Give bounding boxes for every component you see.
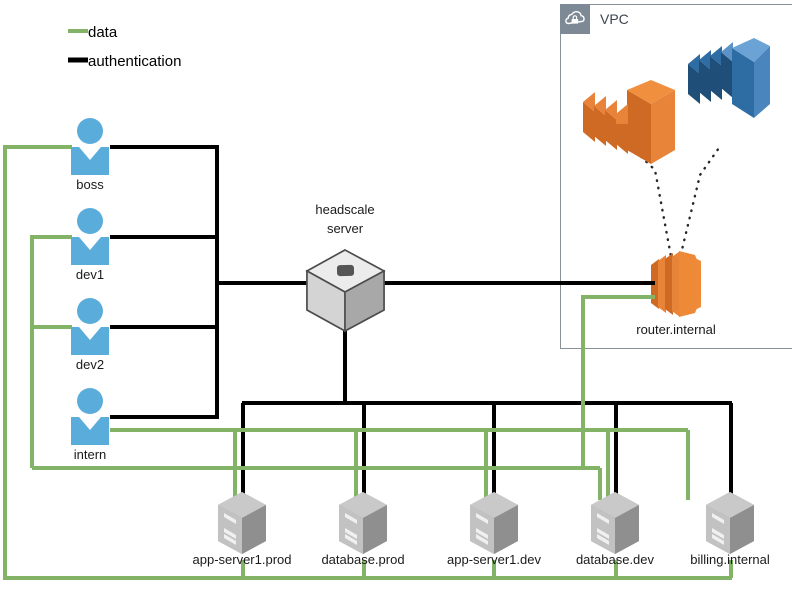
server-tower-icon	[706, 492, 754, 554]
server-node-database-dev[interactable]: database.dev	[576, 492, 655, 567]
aws-instance-orange-icon	[651, 251, 701, 317]
actor-node-boss[interactable]: boss	[71, 118, 109, 192]
server-tower-icon	[339, 492, 387, 554]
user-nodes: boss dev1 dev2	[71, 118, 109, 462]
legend-item-authentication: authentication	[68, 53, 181, 70]
actor-icon	[71, 388, 109, 445]
actor-icon	[71, 118, 109, 175]
server-tower-icon	[218, 492, 266, 554]
actor-node-dev1[interactable]: dev1	[71, 208, 109, 282]
vpc-label: VPC	[600, 11, 629, 27]
legend-item-data: data	[68, 24, 118, 41]
server-label: app-server1.prod	[193, 552, 292, 567]
server-nodes: app-server1.prod database.prod	[193, 492, 770, 567]
legend-label: data	[88, 24, 118, 41]
headscale-node[interactable]: headscale server	[307, 202, 384, 331]
network-topology-diagram: VPC	[0, 0, 792, 593]
server-tower-icon	[591, 492, 639, 554]
server-node-app-server1-dev[interactable]: app-server1.dev	[447, 492, 541, 567]
headscale-label-line2: server	[327, 221, 364, 236]
server-label: billing.internal	[690, 552, 770, 567]
user-label: boss	[76, 177, 104, 192]
legend-label: authentication	[88, 53, 181, 70]
actor-icon	[71, 298, 109, 355]
cube-3d-icon	[307, 250, 384, 331]
actor-icon	[71, 208, 109, 265]
user-label: dev2	[76, 357, 104, 372]
headscale-label-line1: headscale	[315, 202, 374, 217]
server-label: database.dev	[576, 552, 655, 567]
server-node-database-prod[interactable]: database.prod	[321, 492, 404, 567]
diagram-canvas: VPC	[0, 0, 792, 593]
server-tower-icon	[470, 492, 518, 554]
router-label: router.internal	[636, 322, 716, 337]
server-node-billing-internal[interactable]: billing.internal	[690, 492, 770, 567]
server-node-app-server1-prod[interactable]: app-server1.prod	[193, 492, 292, 567]
actor-node-intern[interactable]: intern	[71, 388, 109, 462]
legend: data authentication	[68, 24, 181, 70]
server-label: database.prod	[321, 552, 404, 567]
user-label: intern	[74, 447, 107, 462]
actor-node-dev2[interactable]: dev2	[71, 298, 109, 372]
server-label: app-server1.dev	[447, 552, 541, 567]
user-label: dev1	[76, 267, 104, 282]
